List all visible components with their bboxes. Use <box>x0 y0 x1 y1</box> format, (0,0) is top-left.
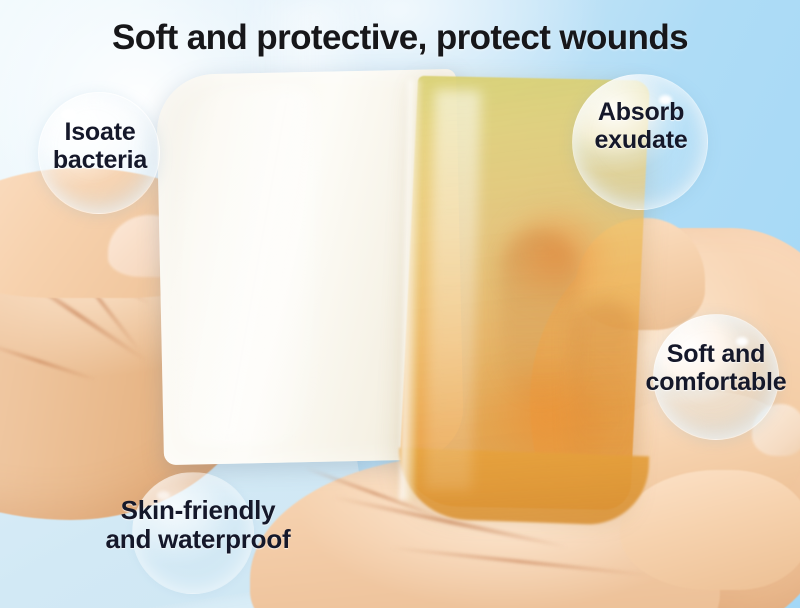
palm-crease <box>88 202 142 301</box>
palm-crease <box>60 249 142 353</box>
right-hand-finger-ring <box>620 470 800 590</box>
palm-crease <box>5 265 148 363</box>
feature-label-skin-friendly: Skin-friendly and waterproof <box>78 496 318 554</box>
palm-crease <box>0 342 98 382</box>
feature-label-absorb-exudate: Absorb exudate <box>548 98 734 154</box>
product-feature-image: Isoate bacteria Absorb exudate Soft and … <box>0 0 800 608</box>
page-title: Soft and protective, protect wounds <box>0 18 800 58</box>
palm-crease <box>17 234 152 306</box>
feature-label-soft-comfortable: Soft and comfortable <box>622 340 800 396</box>
palm-crease <box>391 546 650 576</box>
feature-label-isolate-bacteria: Isoate bacteria <box>10 118 190 174</box>
